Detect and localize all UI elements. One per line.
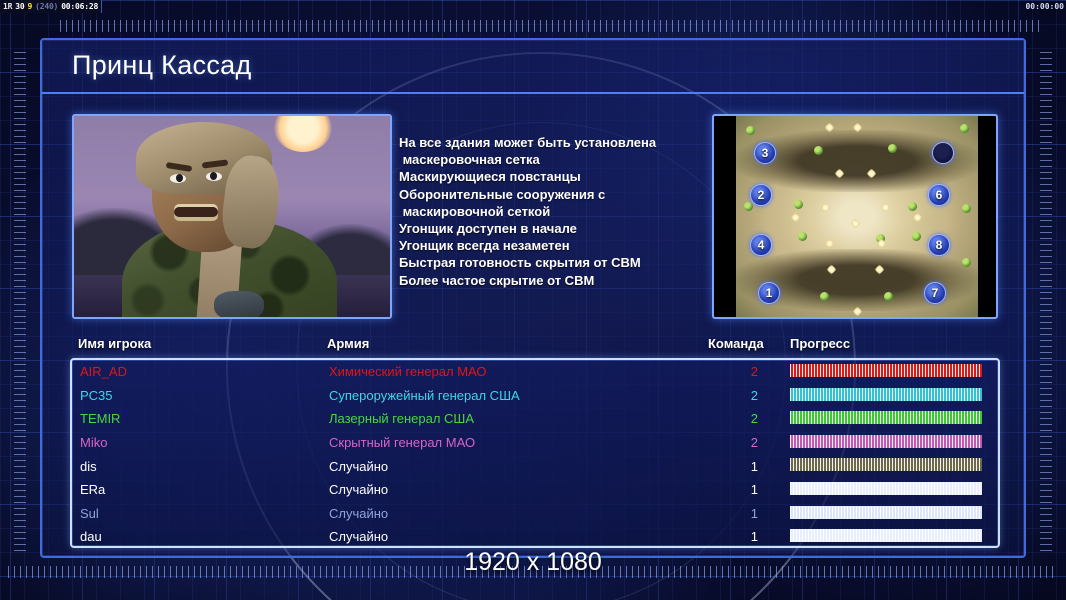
table-row[interactable]: disСлучайно1 [72, 454, 998, 478]
player-name: PC35 [80, 388, 113, 403]
ruler-left [14, 52, 26, 552]
player-name: dis [80, 459, 97, 474]
bonus-line: маскировочной сеткой [399, 203, 695, 220]
map-tree [888, 144, 897, 153]
progress-bar [790, 388, 982, 401]
map-tree [746, 126, 755, 135]
table-row[interactable]: dauСлучайно1 [72, 525, 998, 548]
player-team: 1 [744, 459, 758, 474]
player-table-header: Имя игрока Армия Команда Прогресс [72, 336, 998, 358]
progress-bar-fill [790, 482, 982, 495]
player-army: Химический генерал МАО [329, 364, 487, 379]
player-army: Скрытный генерал МАО [329, 435, 475, 450]
player-name: Sul [80, 506, 99, 521]
table-row[interactable]: MikoСкрытный генерал МАО2 [72, 431, 998, 455]
player-army: Случайно [329, 459, 388, 474]
resolution-overlay: 1920 x 1080 [0, 548, 1066, 577]
bonus-line: маскеровочная сетка [399, 151, 695, 168]
loading-screen-panel: Принц Кассад На все здания может б [40, 38, 1026, 558]
player-name: AIR_AD [80, 364, 127, 379]
session-clock: 00:00:00 [1025, 0, 1064, 13]
top-status-bar: 1R 30 9 (240) 00:06:28 00:00:00 [0, 0, 1066, 13]
elapsed-clock: 00:06:28 [61, 2, 98, 11]
page-title: Принц Кассад [72, 50, 252, 81]
stat-value-3: (240) [35, 2, 58, 11]
map-start-position[interactable]: 4 [750, 234, 772, 256]
bonus-line: Маскирующиеся повстанцы [399, 168, 695, 185]
ruler-right [1040, 52, 1052, 552]
player-team: 2 [744, 388, 758, 403]
map-start-position[interactable]: 8 [928, 234, 950, 256]
player-table: AIR_ADХимический генерал МАО2PC35Суперор… [70, 358, 1000, 548]
progress-bar-fill [790, 364, 982, 377]
map-tree [908, 202, 917, 211]
title-band: Принц Кассад [42, 40, 1024, 94]
map-tree [884, 292, 893, 301]
player-name: Miko [80, 435, 107, 450]
progress-bar [790, 529, 982, 542]
map-terrain: 3264817 [736, 116, 978, 317]
progress-bar-fill [790, 529, 982, 542]
progress-bar [790, 411, 982, 424]
map-tree [912, 232, 921, 241]
player-team: 1 [744, 482, 758, 497]
table-row[interactable]: ERaСлучайно1 [72, 478, 998, 502]
bonus-line: Быстрая готовность скрытия от СВМ [399, 254, 695, 271]
fps-label: 1R [3, 2, 12, 11]
portrait-pupil-right [210, 172, 217, 180]
table-row[interactable]: SulСлучайно1 [72, 502, 998, 526]
bonus-line: На все здания может быть установлена [399, 134, 695, 151]
map-tree [960, 124, 969, 133]
map-tree [794, 200, 803, 209]
map-start-position[interactable]: 7 [924, 282, 946, 304]
player-army: Случайно [329, 529, 388, 544]
player-army: Случайно [329, 482, 388, 497]
player-team: 1 [744, 529, 758, 544]
performance-readout: 1R 30 9 (240) 00:06:28 [0, 0, 102, 13]
column-header-name: Имя игрока [78, 336, 151, 351]
progress-bar-fill [790, 435, 982, 448]
player-team: 1 [744, 506, 758, 521]
map-tree [820, 292, 829, 301]
portrait-pupil-left [176, 174, 183, 182]
player-army: Лазерный генерал США [329, 411, 474, 426]
bonus-line: Оборонительные сооружения с [399, 186, 695, 203]
table-row[interactable]: PC35Супероружейный генерал США2 [72, 384, 998, 408]
player-team: 2 [744, 411, 758, 426]
portrait-held-object [214, 291, 264, 319]
player-army: Супероружейный генерал США [329, 388, 520, 403]
progress-bar [790, 364, 982, 377]
player-team: 2 [744, 364, 758, 379]
progress-bar [790, 482, 982, 495]
progress-bar [790, 458, 982, 471]
map-start-position[interactable]: 2 [750, 184, 772, 206]
ruler-top [60, 20, 1040, 32]
info-row: На все здания может быть установлена мас… [72, 114, 998, 324]
table-row[interactable]: AIR_ADХимический генерал МАО2 [72, 360, 998, 384]
map-preview: 3264817 [712, 114, 998, 319]
progress-bar-fill [790, 506, 982, 519]
table-row[interactable]: TEMIRЛазерный генерал США2 [72, 407, 998, 431]
bonus-line: Более частое скрытие от СВМ [399, 272, 695, 289]
player-name: dau [80, 529, 102, 544]
stat-value-2: 9 [27, 2, 32, 11]
player-name: ERa [80, 482, 105, 497]
map-tree [814, 146, 823, 155]
progress-bar [790, 435, 982, 448]
progress-bar [790, 506, 982, 519]
bonus-line: Угонщик всегда незаметен [399, 237, 695, 254]
player-army: Случайно [329, 506, 388, 521]
map-tree [962, 258, 971, 267]
map-tree [962, 204, 971, 213]
bonus-line: Угонщик доступен в начале [399, 220, 695, 237]
player-name: TEMIR [80, 411, 120, 426]
progress-bar-fill [790, 388, 982, 401]
stat-value-1: 30 [15, 2, 24, 11]
map-start-position[interactable] [932, 142, 954, 164]
map-start-position[interactable]: 1 [758, 282, 780, 304]
map-tree [744, 202, 753, 211]
player-team: 2 [744, 435, 758, 450]
column-header-army: Армия [327, 336, 369, 351]
general-portrait [72, 114, 392, 319]
column-header-team: Команда [708, 336, 764, 351]
map-tree [798, 232, 807, 241]
map-start-position[interactable]: 6 [928, 184, 950, 206]
progress-bar-fill [790, 458, 982, 471]
map-start-position[interactable]: 3 [754, 142, 776, 164]
portrait-mouth [174, 204, 218, 221]
general-bonus-list: На все здания может быть установлена мас… [399, 134, 695, 289]
column-header-progress: Прогресс [790, 336, 850, 351]
progress-bar-fill [790, 411, 982, 424]
